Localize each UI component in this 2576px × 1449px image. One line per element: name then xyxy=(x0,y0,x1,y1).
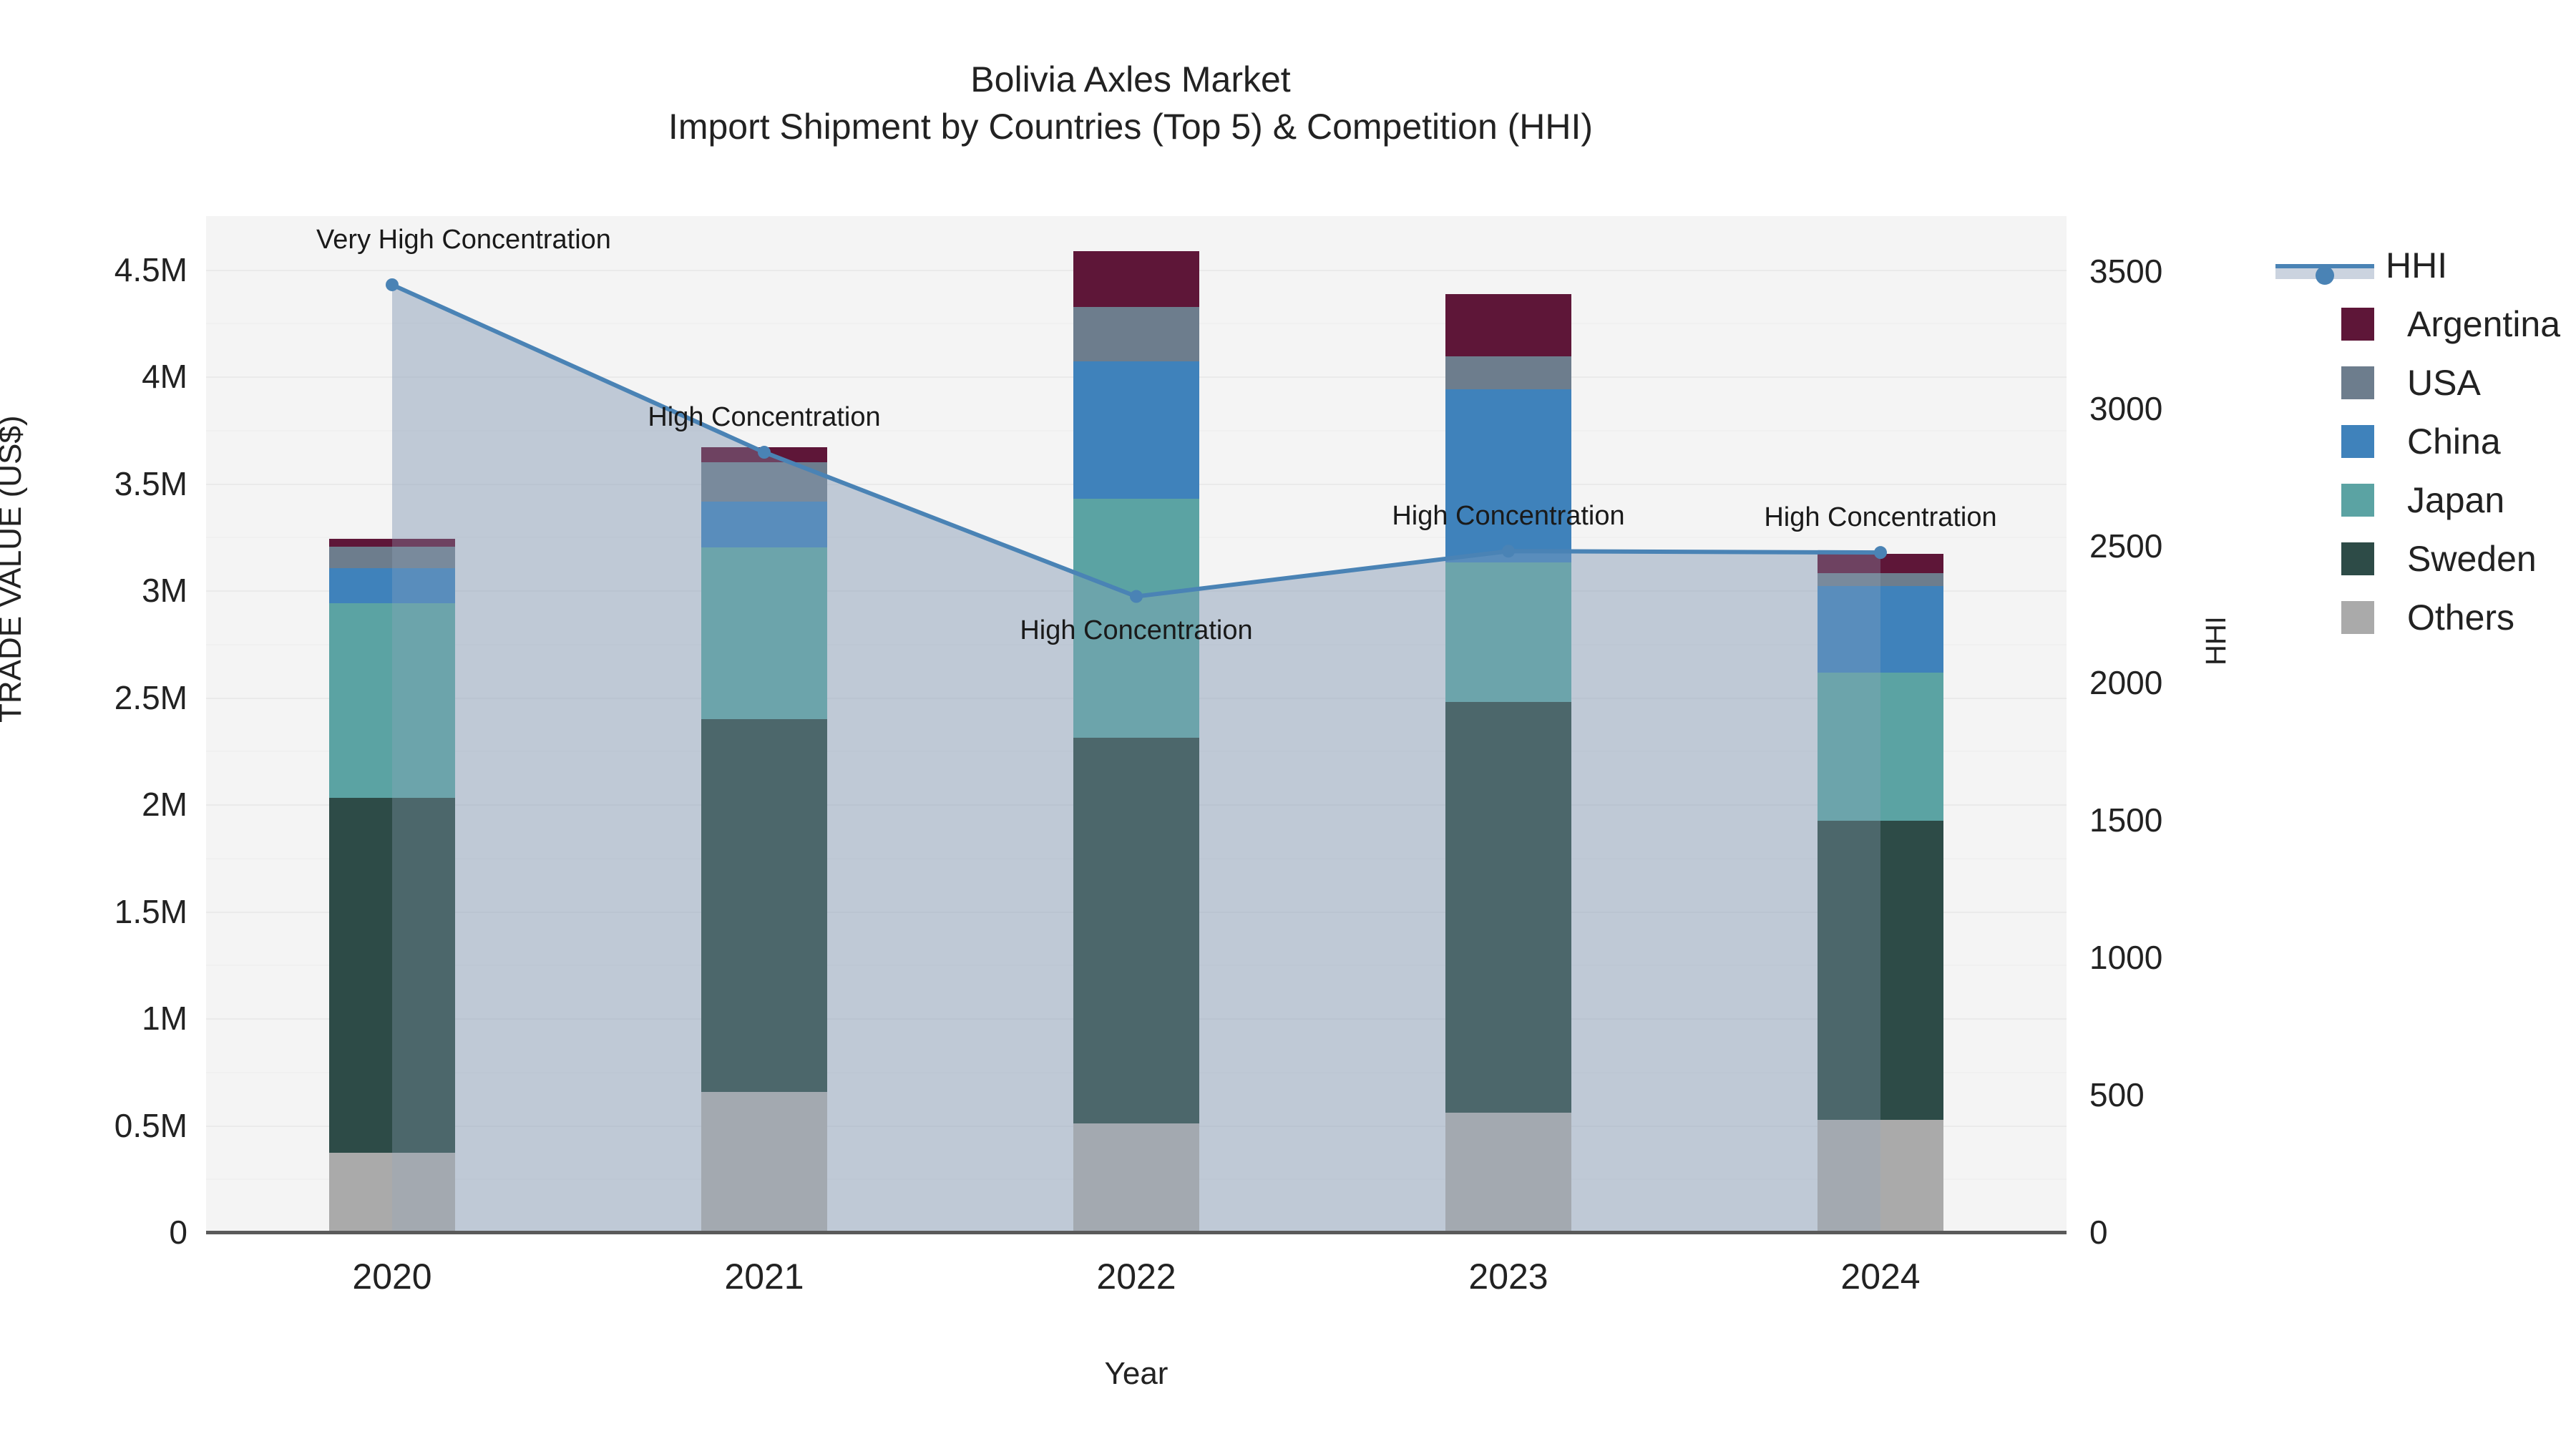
y-axis-right-label: HHI xyxy=(2200,616,2233,665)
chart-root: Bolivia Axles Market Import Shipment by … xyxy=(0,0,2576,1449)
legend: HHIArgentinaUSAChinaJapanSwedenOthers xyxy=(2275,236,2560,647)
x-axis-tick-2020[interactable]: 2020 xyxy=(352,1256,431,1297)
y-axis-right-tick-1500: 1500 xyxy=(2089,801,2162,839)
hhi-marker-2023[interactable] xyxy=(1502,545,1515,557)
legend-swatch-sweden xyxy=(2341,542,2374,575)
legend-label-hhi: HHI xyxy=(2386,245,2447,286)
y-axis-left-tick-4M: 4M xyxy=(0,357,187,396)
legend-item-sweden[interactable]: Sweden xyxy=(2275,530,2560,588)
legend-item-others[interactable]: Others xyxy=(2275,588,2560,647)
legend-swatch-china xyxy=(2341,425,2374,458)
annotation-2021: High Concentration xyxy=(648,402,880,433)
legend-item-argentina[interactable]: Argentina xyxy=(2275,295,2560,353)
hhi-marker-2021[interactable] xyxy=(758,446,771,459)
y-axis-right-tick-3500: 3500 xyxy=(2089,252,2162,291)
legend-label-sweden: Sweden xyxy=(2407,538,2537,580)
annotation-2024: High Concentration xyxy=(1764,502,1996,533)
y-axis-left-label: TRADE VALUE (US$) xyxy=(0,416,29,723)
legend-swatch-usa xyxy=(2341,366,2374,399)
y-axis-left-tick-4.5M: 4.5M xyxy=(0,250,187,289)
y-axis-left-tick-1.5M: 1.5M xyxy=(0,892,187,931)
legend-swatch-others xyxy=(2341,601,2374,634)
x-axis-tick-2021[interactable]: 2021 xyxy=(724,1256,804,1297)
legend-item-usa[interactable]: USA xyxy=(2275,353,2560,412)
y-axis-right-tick-500: 500 xyxy=(2089,1075,2145,1114)
legend-label-japan: Japan xyxy=(2407,479,2504,521)
x-axis-tick-2024[interactable]: 2024 xyxy=(1840,1256,1920,1297)
y-axis-left-tick-0: 0 xyxy=(0,1213,187,1252)
legend-label-argentina: Argentina xyxy=(2407,303,2560,345)
hhi-polyline xyxy=(392,285,1880,597)
annotation-2023: High Concentration xyxy=(1392,501,1624,532)
legend-item-hhi[interactable]: HHI xyxy=(2275,236,2560,295)
annotation-2020: Very High Concentration xyxy=(316,225,611,255)
y-axis-right-tick-2000: 2000 xyxy=(2089,663,2162,702)
hhi-marker-2024[interactable] xyxy=(1874,546,1887,559)
legend-line-marker xyxy=(2316,266,2334,285)
legend-swatch-argentina xyxy=(2341,308,2374,341)
legend-line-swatch xyxy=(2275,249,2374,282)
legend-swatch-japan xyxy=(2341,484,2374,517)
y-axis-right-tick-2500: 2500 xyxy=(2089,527,2162,565)
hhi-line-series xyxy=(206,216,2067,1232)
y-axis-right-tick-3000: 3000 xyxy=(2089,389,2162,428)
chart-title: Bolivia Axles Market Import Shipment by … xyxy=(0,56,2261,150)
legend-label-usa: USA xyxy=(2407,362,2481,404)
hhi-marker-2022[interactable] xyxy=(1130,590,1143,603)
y-axis-left-tick-0.5M: 0.5M xyxy=(0,1106,187,1145)
annotation-2022: High Concentration xyxy=(1020,615,1252,646)
x-axis-tick-2022[interactable]: 2022 xyxy=(1096,1256,1176,1297)
y-axis-right-tick-1000: 1000 xyxy=(2089,938,2162,977)
x-axis-tick-2023[interactable]: 2023 xyxy=(1468,1256,1548,1297)
legend-label-others: Others xyxy=(2407,597,2514,638)
x-axis-line xyxy=(206,1231,2067,1234)
chart-title-line-1: Bolivia Axles Market xyxy=(0,56,2261,103)
chart-title-line-2: Import Shipment by Countries (Top 5) & C… xyxy=(0,103,2261,150)
y-axis-left-tick-1M: 1M xyxy=(0,999,187,1038)
legend-item-japan[interactable]: Japan xyxy=(2275,471,2560,530)
x-axis-label: Year xyxy=(206,1356,2067,1392)
legend-label-china: China xyxy=(2407,421,2501,462)
hhi-marker-2020[interactable] xyxy=(386,278,399,291)
legend-item-china[interactable]: China xyxy=(2275,412,2560,471)
y-axis-right-tick-0: 0 xyxy=(2089,1213,2108,1252)
y-axis-left-tick-2M: 2M xyxy=(0,785,187,824)
